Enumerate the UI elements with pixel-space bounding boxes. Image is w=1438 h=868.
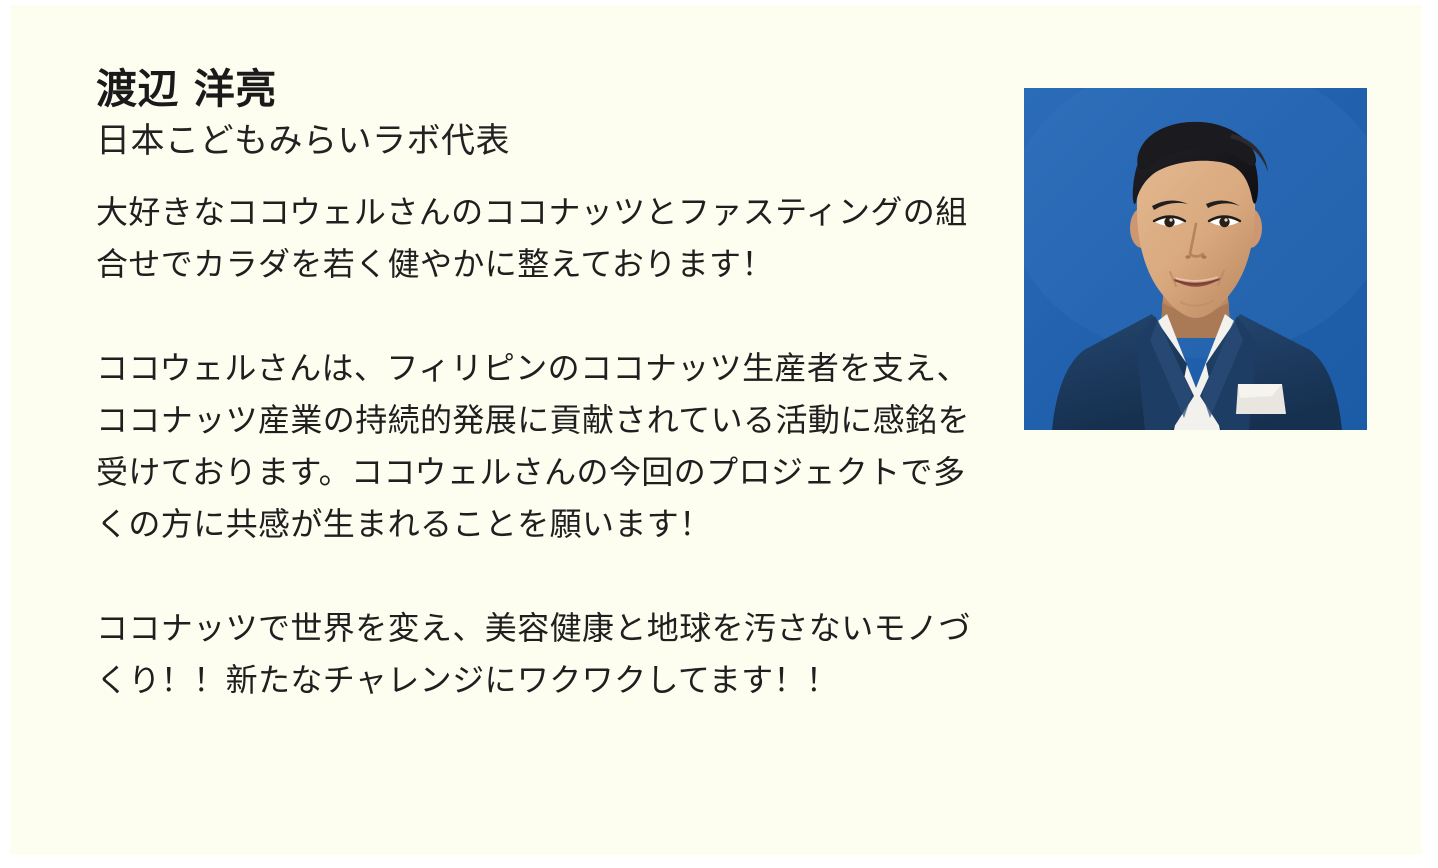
profile-paragraph-3: ココナッツで世界を変え、美容健康と地球を汚さないモノづくり！！新たなチャレンジに… bbox=[96, 602, 976, 706]
profile-paragraph-1: 大好きなココウェルさんのココナッツとファスティングの組合せでカラダを若く健やかに… bbox=[96, 186, 976, 290]
page-title: 渡辺 洋亮 bbox=[96, 63, 986, 115]
profile-photo bbox=[1024, 88, 1367, 430]
profile-role: 日本こどもみらいラボ代表 bbox=[96, 119, 986, 163]
profile-content: 渡辺 洋亮 日本こどもみらいラボ代表 大好きなココウェルさんのココナッツとファス… bbox=[86, 63, 1386, 823]
page-panel: 渡辺 洋亮 日本こどもみらいラボ代表 大好きなココウェルさんのココナッツとファス… bbox=[10, 5, 1422, 855]
profile-text-column: 渡辺 洋亮 日本こどもみらいラボ代表 大好きなココウェルさんのココナッツとファス… bbox=[86, 63, 986, 706]
portrait-image bbox=[1024, 88, 1367, 430]
profile-paragraph-2: ココウェルさんは、フィリピンのココナッツ生産者を支え、ココナッツ産業の持続的発展… bbox=[96, 342, 976, 550]
